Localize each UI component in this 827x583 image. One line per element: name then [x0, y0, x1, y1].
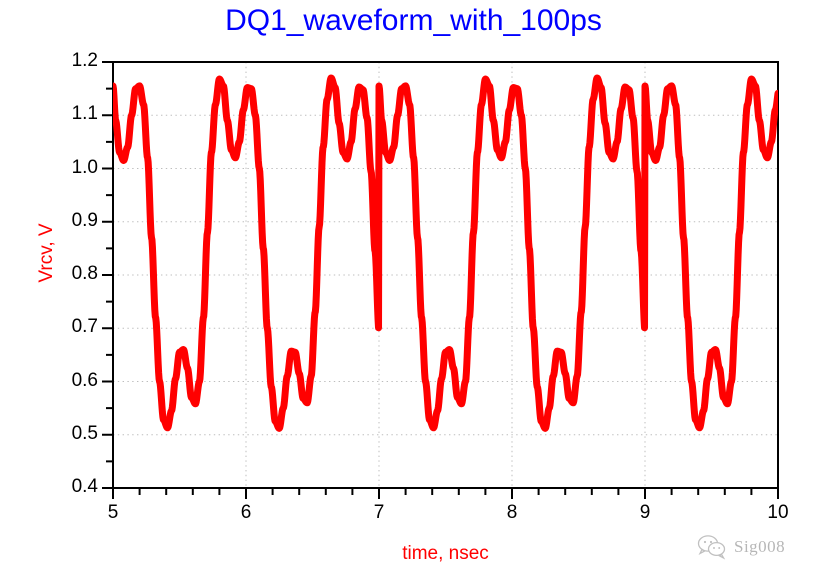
y-tick-label: 1.0 [38, 157, 98, 179]
watermark-text: Sig008 [734, 537, 785, 557]
y-tick-label: 0.8 [38, 263, 98, 285]
x-axis-label: time, nsec [113, 543, 778, 565]
wechat-icon [697, 534, 727, 560]
x-tick-label: 6 [216, 502, 276, 524]
y-tick-label: 0.4 [38, 476, 98, 498]
x-tick-label: 8 [482, 502, 542, 524]
y-tick-label: 0.9 [38, 210, 98, 232]
x-tick-label: 9 [615, 502, 675, 524]
y-tick-label: 0.5 [38, 423, 98, 445]
waveform-trace [113, 78, 778, 428]
plot-area [0, 0, 827, 583]
x-tick-label: 10 [748, 502, 808, 524]
y-tick-label: 0.7 [38, 316, 98, 338]
watermark: Sig008 [697, 530, 817, 564]
y-tick-label: 1.2 [38, 50, 98, 72]
y-tick-label: 0.6 [38, 370, 98, 392]
chart-container: DQ1_waveform_with_100ps Vrcv, V time, ns… [0, 0, 827, 583]
x-tick-label: 7 [349, 502, 409, 524]
x-tick-label: 5 [83, 502, 143, 524]
y-tick-label: 1.1 [38, 103, 98, 125]
